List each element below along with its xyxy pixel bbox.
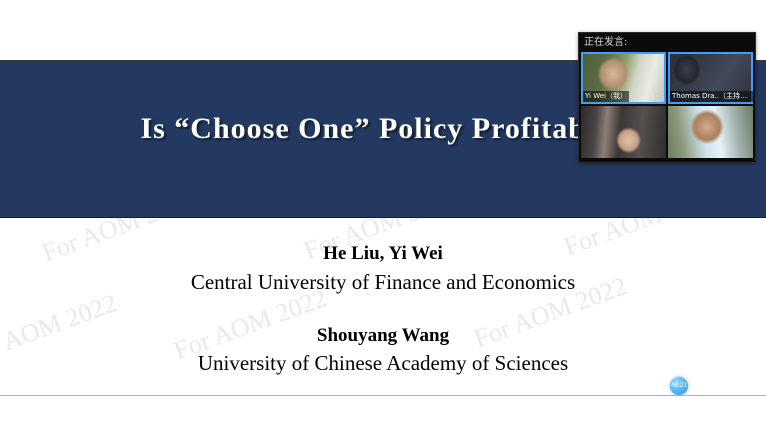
author-names: Shouyang Wang	[0, 322, 766, 350]
participant-name-label: Thomas Dra..（主持人）	[670, 91, 753, 102]
mic-muted-icon	[655, 93, 663, 101]
active-speaker-label: 正在发言:	[579, 33, 755, 52]
bottom-bar	[0, 396, 766, 430]
author-block: He Liu, Yi Wei Central University of Fin…	[0, 240, 766, 296]
author-block: Shouyang Wang University of Chinese Acad…	[0, 322, 766, 378]
video-tile[interactable]	[581, 106, 666, 158]
author-names: He Liu, Yi Wei	[0, 240, 766, 268]
participant-name-label: Yi Wei（我）	[583, 91, 629, 102]
meeting-timer-badge[interactable]: 48:21	[670, 377, 688, 395]
screen-root: Is “Choose One” Policy Profitable? For A…	[0, 0, 766, 430]
video-tile[interactable]	[668, 106, 753, 158]
video-participants-panel[interactable]: 正在发言: Yi Wei（我） Thomas Dra..（主持人）	[578, 32, 756, 163]
video-tile[interactable]: Yi Wei（我）	[581, 52, 666, 104]
author-affiliation: Central University of Finance and Econom…	[0, 268, 766, 296]
participant-video-feed	[668, 106, 753, 158]
author-affiliation: University of Chinese Academy of Science…	[0, 349, 766, 377]
video-tile[interactable]: Thomas Dra..（主持人）	[668, 52, 753, 104]
video-tile-grid: Yi Wei（我） Thomas Dra..（主持人）	[579, 52, 755, 160]
participant-video-feed	[581, 106, 666, 158]
authors-section: He Liu, Yi Wei Central University of Fin…	[0, 240, 766, 378]
